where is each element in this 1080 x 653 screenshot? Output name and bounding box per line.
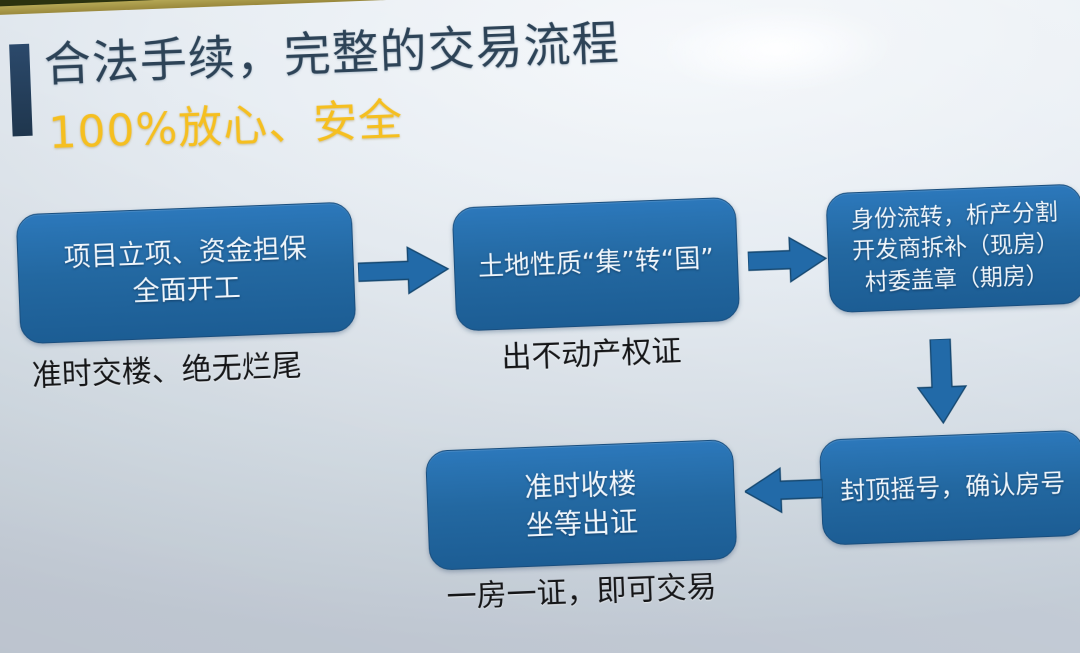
flow-node-5-line-1: 准时收楼: [524, 465, 637, 507]
arrow-right-icon: [747, 231, 829, 288]
flow-node-5-line-2: 坐等出证: [525, 503, 638, 545]
flow-node-2-caption: 出不动产权证: [501, 326, 683, 377]
flow-node-5-caption: 一房一证，即可交易: [446, 562, 717, 616]
flow-node-2-text: 土地性质“集”转“国”: [477, 242, 714, 286]
projection-screen: 合法手续，完整的交易流程 100%放心、安全 项目立项、资金担保 全面开工 准时…: [0, 0, 1080, 653]
flow-node-1-caption: 准时交楼、绝无烂尾: [31, 341, 302, 395]
slide-photo: 合法手续，完整的交易流程 100%放心、安全 项目立项、资金担保 全面开工 准时…: [0, 0, 1080, 653]
flow-node-4-text: 封顶摇号，确认房号: [840, 466, 1066, 509]
flow-node-3-text: 身份流转，析产分割 开发商拆补（现房） 村委盖章（期房）: [850, 197, 1060, 299]
page-subtitle: 100%放心、安全: [48, 95, 404, 159]
flow-node-4[interactable]: 封顶摇号，确认房号: [819, 430, 1080, 546]
flow-node-2[interactable]: 土地性质“集”转“国”: [452, 197, 741, 332]
flow-node-1-text: 项目立项、资金担保 全面开工: [63, 232, 309, 315]
arrow-left-icon: [744, 462, 824, 519]
slide-content: 合法手续，完整的交易流程 100%放心、安全 项目立项、资金担保 全面开工 准时…: [0, 0, 1080, 653]
flow-node-3[interactable]: 身份流转，析产分割 开发商拆补（现房） 村委盖章（期房）: [825, 183, 1080, 313]
flow-node-5[interactable]: 准时收楼 坐等出证: [425, 439, 737, 571]
flow-node-5-text: 准时收楼 坐等出证: [524, 465, 639, 545]
page-title: 合法手续，完整的交易流程: [43, 17, 621, 93]
flow-node-2-line-1: 土地性质“集”转“国”: [477, 242, 714, 286]
flow-node-4-line-1: 封顶摇号，确认房号: [840, 466, 1066, 509]
title-accent-bar: [9, 44, 33, 137]
arrow-down-icon: [911, 338, 972, 426]
flow-node-1[interactable]: 项目立项、资金担保 全面开工: [16, 201, 357, 344]
arrow-right-icon: [357, 240, 451, 301]
